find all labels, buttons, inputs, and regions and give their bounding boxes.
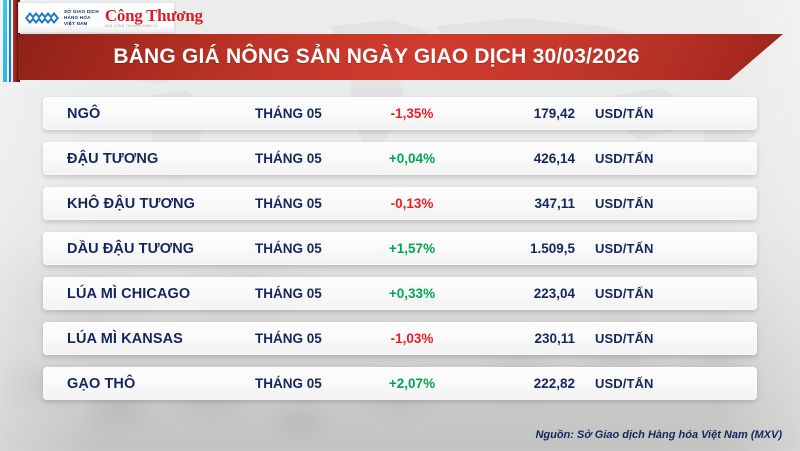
price-unit: USD/TẤN [595,376,653,391]
table-row: ĐẬU TƯƠNG THÁNG 05 +0,04% 426,14 USD/TẤN [43,142,757,175]
price-value: 347,11 [483,196,575,211]
congthuong-name: Công Thương [105,7,203,24]
change-percent: -1,03% [363,331,461,346]
left-accent-bars [0,0,20,82]
table-row: LÚA MÌ CHICAGO THÁNG 05 +0,33% 223,04 US… [43,277,757,310]
contract-month: THÁNG 05 [255,241,322,256]
header-banner: BẢNG GIÁ NÔNG SẢN NGÀY GIAO DỊCH 30/03/2… [18,34,783,80]
change-percent: +1,57% [363,241,461,256]
price-value: 179,42 [483,106,575,121]
commodity-name: ĐẬU TƯƠNG [67,151,158,167]
change-percent: +2,07% [363,376,461,391]
page-title: BẢNG GIÁ NÔNG SẢN NGÀY GIAO DỊCH 30/03/2… [113,45,687,69]
logo-strip: SỞ GIAO DỊCH HÀNG HÓA VIỆT NAM Công Thươ… [18,2,175,33]
price-unit: USD/TẤN [595,151,653,166]
congthuong-subtitle: BÁO CÔNG THƯƠNG ĐIỆN TỬ [105,25,203,28]
price-value: 223,04 [483,286,575,301]
change-percent: -0,13% [363,196,461,211]
table-row: NGÔ THÁNG 05 -1,35% 179,42 USD/TẤN [43,97,757,130]
table-row: DẦU ĐẬU TƯƠNG THÁNG 05 +1,57% 1.509,5 US… [43,232,757,265]
contract-month: THÁNG 05 [255,106,322,121]
price-unit: USD/TẤN [595,286,653,301]
table-row: KHÔ ĐẬU TƯƠNG THÁNG 05 -0,13% 347,11 USD… [43,187,757,220]
price-unit: USD/TẤN [595,106,653,121]
commodity-name: DẦU ĐẬU TƯƠNG [67,241,194,257]
congthuong-logo: Công Thương BÁO CÔNG THƯƠNG ĐIỆN TỬ [105,7,203,28]
mxv-logo: SỞ GIAO DỊCH HÀNG HÓA VIỆT NAM [23,8,99,28]
price-value: 1.509,5 [483,241,575,256]
source-caption: Nguồn: Sở Giao dịch Hàng hóa Việt Nam (M… [535,429,782,441]
table-row: GẠO THÔ THÁNG 05 +2,07% 222,82 USD/TẤN [43,367,757,400]
price-board-page: SỞ GIAO DỊCH HÀNG HÓA VIỆT NAM Công Thươ… [0,0,800,451]
price-value: 222,82 [483,376,575,391]
mxv-text-line3: VIỆT NAM [64,21,99,27]
contract-month: THÁNG 05 [255,331,322,346]
contract-month: THÁNG 05 [255,151,322,166]
price-value: 426,14 [483,151,575,166]
commodity-name: KHÔ ĐẬU TƯƠNG [67,196,195,212]
price-unit: USD/TẤN [595,331,653,346]
contract-month: THÁNG 05 [255,196,322,211]
price-unit: USD/TẤN [595,241,653,256]
price-table: NGÔ THÁNG 05 -1,35% 179,42 USD/TẤN ĐẬU T… [43,97,757,412]
table-row: LÚA MÌ KANSAS THÁNG 05 -1,03% 230,11 USD… [43,322,757,355]
change-percent: +0,33% [363,286,461,301]
mxv-diamond-logo-icon [23,8,61,28]
commodity-name: LÚA MÌ CHICAGO [67,286,190,302]
commodity-name: GẠO THÔ [67,376,135,392]
price-unit: USD/TẤN [595,196,653,211]
price-value: 230,11 [483,331,575,346]
change-percent: +0,04% [363,151,461,166]
commodity-name: LÚA MÌ KANSAS [67,331,183,347]
contract-month: THÁNG 05 [255,286,322,301]
commodity-name: NGÔ [67,106,100,122]
contract-month: THÁNG 05 [255,376,322,391]
change-percent: -1,35% [363,106,461,121]
mxv-logo-text: SỞ GIAO DỊCH HÀNG HÓA VIỆT NAM [64,9,99,27]
mxv-text-line1: SỞ GIAO DỊCH [64,9,99,15]
